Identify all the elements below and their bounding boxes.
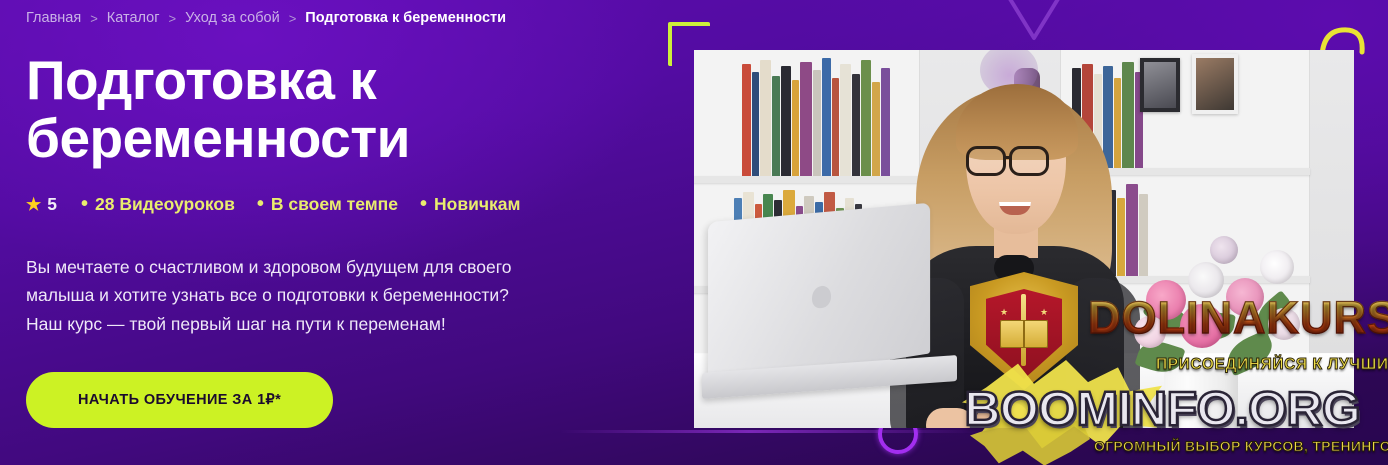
glasses-lens-left-icon xyxy=(966,146,1006,176)
framed-photo-image xyxy=(1196,58,1234,110)
book-icon xyxy=(1000,320,1048,348)
meta-label-lessons: 28 Видеоуроков xyxy=(95,194,235,215)
breadcrumb-separator-icon: > xyxy=(90,11,98,26)
breadcrumb-separator-icon: > xyxy=(289,11,297,26)
meta-item-level: • Новичкам xyxy=(420,194,520,215)
shelf-board xyxy=(694,176,920,183)
watermark-dolinakursov: ★ ★ DOLINAKURSOV ПРИСОЕДИНЯЙСЯ К ЛУЧШИМ! xyxy=(970,268,1370,388)
hero-text-column: Главная > Каталог > Уход за собой > Подг… xyxy=(26,10,646,428)
glasses-bridge-icon xyxy=(1005,156,1012,159)
start-course-button[interactable]: НАЧАТЬ ОБУЧЕНИЕ ЗА 1₽* xyxy=(26,372,333,428)
watermark-brand-tagline: ПРИСОЕДИНЯЙСЯ К ЛУЧШИМ! xyxy=(1156,356,1388,374)
watermark-boominfo-title: BOOMINFO.ORG xyxy=(964,382,1360,437)
bullet-icon: • xyxy=(420,197,427,211)
watermark-boominfo: BOOMINFO.ORG ОГРОМНЫЙ ВЫБОР КУРСОВ, ТРЕН… xyxy=(962,378,1388,464)
rating-value: 5 xyxy=(47,194,57,215)
star-icon: ★ xyxy=(1040,307,1048,318)
breadcrumb-item-catalog[interactable]: Каталог xyxy=(107,10,160,26)
breadcrumb-item-selfcare[interactable]: Уход за собой xyxy=(185,10,280,26)
glasses-lens-right-icon xyxy=(1009,146,1049,176)
watermark-boominfo-tagline: ОГРОМНЫЙ ВЫБОР КУРСОВ, ТРЕНИНГОВ, КНИГ xyxy=(1094,438,1388,454)
meta-label-level: Новичкам xyxy=(434,194,520,215)
bullet-icon: • xyxy=(81,197,88,211)
meta-label-pace: В своем темпе xyxy=(271,194,398,215)
breadcrumb-separator-icon: > xyxy=(169,11,177,26)
book-row xyxy=(742,58,902,176)
bullet-icon: • xyxy=(257,197,264,211)
triangle-outline-decoration xyxy=(998,0,1070,52)
framed-photo-image xyxy=(1144,62,1176,108)
breadcrumb-item-current: Подготовка к беременности xyxy=(305,10,506,26)
star-icon: ★ xyxy=(26,196,41,213)
meta-item-pace: • В своем темпе xyxy=(257,194,398,215)
course-hero-banner: Главная > Каталог > Уход за собой > Подг… xyxy=(0,0,1388,465)
course-description: Вы мечтаете о счастливом и здоровом буду… xyxy=(26,253,541,340)
rose-light xyxy=(1210,236,1238,264)
watermark-brand-title: DOLINAKURSOV xyxy=(1088,292,1388,344)
meta-item-lessons: • 28 Видеоуроков xyxy=(81,194,235,215)
star-icon: ★ xyxy=(1000,307,1008,318)
course-meta-row: ★ 5 • 28 Видеоуроков • В своем темпе • Н… xyxy=(26,194,646,215)
glow-line-decoration xyxy=(560,430,980,433)
page-title: Подготовка к беременности xyxy=(26,52,496,168)
breadcrumb-item-home[interactable]: Главная xyxy=(26,10,81,26)
breadcrumb: Главная > Каталог > Уход за собой > Подг… xyxy=(26,10,646,26)
